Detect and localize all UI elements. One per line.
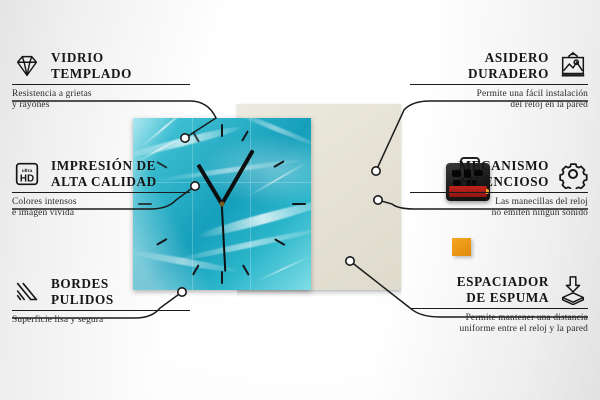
svg-text:HD: HD — [20, 173, 34, 184]
feature-title: ESPACIADOR DE ESPUMA — [457, 274, 549, 305]
feature-title: ASIDERO DURADERO — [468, 50, 549, 81]
diamond-icon — [12, 51, 42, 81]
polished-edges-icon — [12, 277, 42, 307]
feature-desc: Permite una fácil instalación del reloj … — [338, 89, 588, 112]
feature-rule — [12, 84, 190, 85]
feature-desc: Las manecillas del reloj no emiten ningú… — [338, 197, 588, 220]
feature-title: IMPRESIÓN DE ALTA CALIDAD — [51, 158, 157, 189]
feature-rule — [410, 308, 588, 309]
feature-vidrio-templado: VIDRIO TEMPLADO Resistencia a grietas y … — [12, 50, 262, 112]
feature-impresion-alta-calidad: ultra HD IMPRESIÓN DE ALTA CALIDAD Color… — [12, 158, 262, 220]
feature-rule — [410, 84, 588, 85]
feature-rule — [12, 192, 190, 193]
hanging-frame-icon — [558, 51, 588, 81]
connector-dot-vidrio — [181, 134, 189, 142]
infographic-canvas: VIDRIO TEMPLADO Resistencia a grietas y … — [0, 0, 600, 400]
feature-bordes-pulidos: BORDES PULIDOS Superficie lisa y segura — [12, 276, 262, 326]
ultra-hd-icon: ultra HD — [12, 159, 42, 189]
feature-rule — [12, 310, 190, 311]
feature-mecanismo-silencioso: MECANISMO SILENCIOSO Las manecillas del … — [338, 158, 588, 220]
gear-icon — [558, 159, 588, 189]
feature-desc: Superficie lisa y segura — [12, 315, 262, 327]
feature-asidero-duradero: ASIDERO DURADERO Permite una fácil insta… — [338, 50, 588, 112]
connector-dot-espaciador — [346, 257, 354, 265]
feature-desc: Permite mantener una distancia uniforme … — [338, 313, 588, 336]
feature-espaciador-de-espuma: ESPACIADOR DE ESPUMA Permite mantener un… — [338, 274, 588, 336]
feature-desc: Colores intensos e imagen vívida — [12, 197, 262, 220]
feature-title: VIDRIO TEMPLADO — [51, 50, 132, 81]
feature-title: MECANISMO SILENCIOSO — [459, 158, 549, 189]
foam-spacer-icon — [558, 275, 588, 305]
feature-title: BORDES PULIDOS — [51, 276, 114, 307]
feature-desc: Resistencia a grietas y rayones — [12, 89, 262, 112]
feature-rule — [410, 192, 588, 193]
